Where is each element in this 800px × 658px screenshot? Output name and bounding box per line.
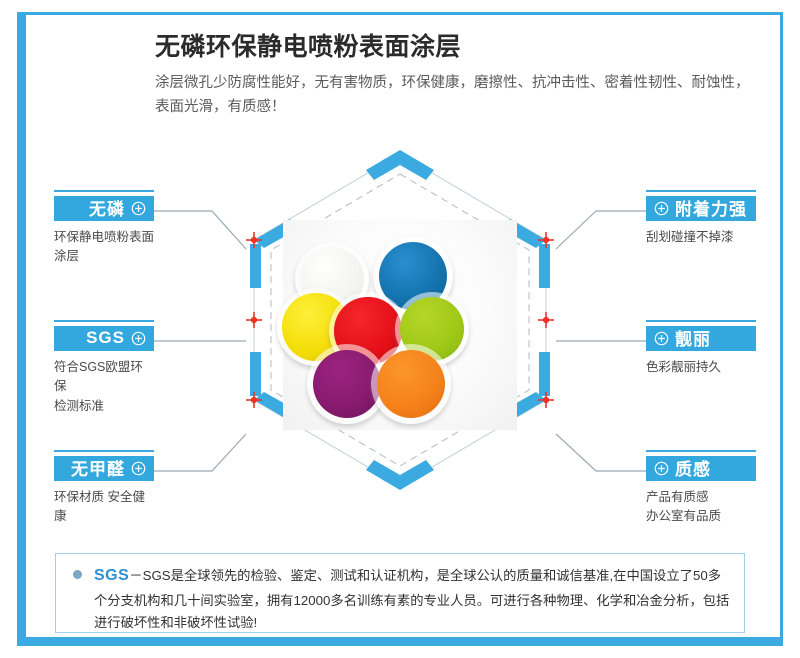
badge-label: 靓丽 (675, 325, 711, 350)
badge-pill[interactable]: 附着力强 (646, 196, 756, 221)
badge-top-rule (54, 450, 154, 452)
badge-label: SGS (86, 328, 125, 348)
footnote-text: SGS－SGS是全球领先的检验、鉴定、测试和认证机构，是全球公认的质量和诚信基准… (94, 562, 730, 635)
badge-top-rule (54, 320, 154, 322)
footnote-brand: SGS (94, 567, 129, 584)
feature-right-vivid-color[interactable]: 靓丽 色彩靓丽持久 (646, 320, 756, 377)
badge-pill[interactable]: 无甲醛 (54, 456, 154, 481)
page-title: 无磷环保静电喷粉表面涂层 (155, 32, 775, 63)
footnote-box: SGS－SGS是全球领先的检验、鉴定、测试和认证机构，是全球公认的质量和诚信基准… (55, 553, 745, 633)
plus-circle-icon[interactable] (131, 461, 146, 476)
bullet-icon (73, 570, 82, 579)
badge-pill[interactable]: 无磷 (54, 196, 154, 221)
plus-circle-icon[interactable] (654, 461, 669, 476)
promo-page: 无磷环保静电喷粉表面涂层 涂层微孔少防腐性能好，无有害物质，环保健康，磨擦性、抗… (0, 0, 800, 658)
page-frame-right-line (780, 12, 783, 646)
page-frame-bottom-bar (17, 637, 783, 646)
footnote-body: －SGS是全球领先的检验、鉴定、测试和认证机构，是全球公认的质量和诚信基准,在中… (94, 568, 729, 630)
badge-label: 附着力强 (675, 195, 747, 220)
feature-right-texture[interactable]: 质感 产品有质感 办公室有品质 (646, 450, 756, 527)
plus-circle-icon[interactable] (654, 331, 669, 346)
feature-left-formaldehyde-free[interactable]: 无甲醛 环保材质 安全健康 (54, 450, 154, 527)
plus-circle-icon[interactable] (654, 201, 669, 216)
orange-powder-cup (371, 344, 451, 424)
badge-top-rule (646, 320, 756, 322)
badge-label: 无甲醛 (71, 455, 125, 480)
badge-pill[interactable]: 靓丽 (646, 326, 756, 351)
plus-circle-icon[interactable] (131, 331, 146, 346)
badge-top-rule (646, 450, 756, 452)
feature-left-wulin[interactable]: 无磷 环保静电喷粉表面涂层 (54, 190, 154, 267)
page-subtitle: 涂层微孔少防腐性能好，无有害物质，环保健康，磨擦性、抗冲击性、密着性韧性、耐蚀性… (155, 72, 755, 119)
product-hexagon-stage (228, 148, 572, 492)
page-frame-top-line (17, 12, 783, 15)
badge-top-rule (646, 190, 756, 192)
feature-description: 环保材质 安全健康 (54, 488, 154, 527)
badge-pill[interactable]: 质感 (646, 456, 756, 481)
feature-description: 环保静电喷粉表面涂层 (54, 228, 154, 267)
feature-description: 产品有质感 办公室有品质 (646, 488, 756, 527)
plus-circle-icon[interactable] (131, 201, 146, 216)
feature-description: 刮划碰撞不掉漆 (646, 228, 756, 247)
badge-top-rule (54, 190, 154, 192)
badge-label: 质感 (675, 455, 711, 480)
product-photo (283, 220, 517, 430)
badge-pill[interactable]: SGS (54, 326, 154, 351)
badge-label: 无磷 (89, 195, 125, 220)
feature-description: 色彩靓丽持久 (646, 358, 756, 377)
header-block: 无磷环保静电喷粉表面涂层 涂层微孔少防腐性能好，无有害物质，环保健康，磨擦性、抗… (155, 32, 775, 119)
feature-left-sgs[interactable]: SGS 符合SGS欧盟环保 检测标准 (54, 320, 154, 416)
page-frame-left-bar (17, 12, 26, 646)
feature-right-adhesion[interactable]: 附着力强 刮划碰撞不掉漆 (646, 190, 756, 247)
feature-description: 符合SGS欧盟环保 检测标准 (54, 358, 154, 416)
